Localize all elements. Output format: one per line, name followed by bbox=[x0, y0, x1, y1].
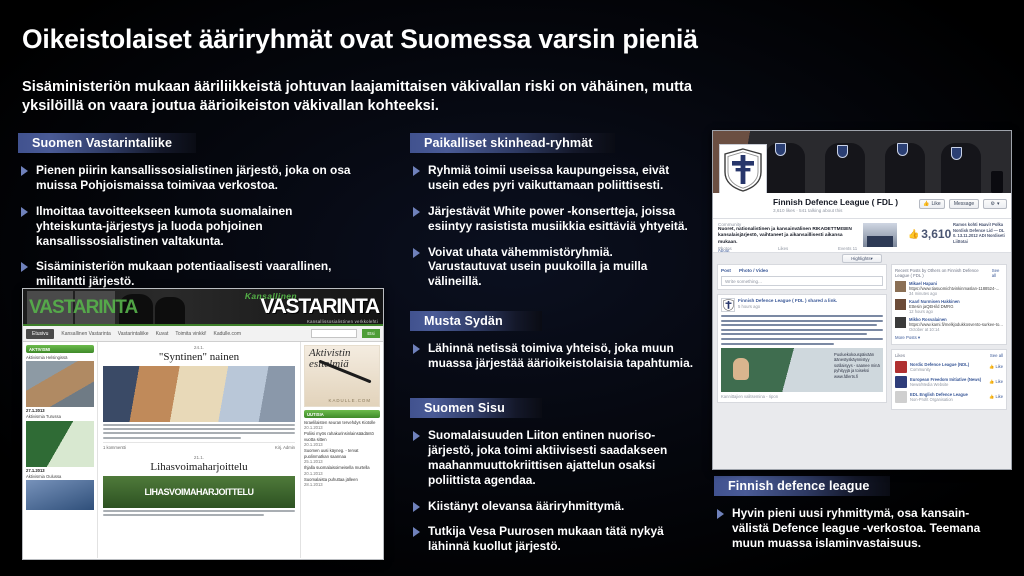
recent-post-time: 34 minutes ago bbox=[909, 291, 1003, 296]
bullet-text: Ryhmiä toimii useissa kaupungeissa, eivä… bbox=[428, 163, 669, 192]
like-count-value: 3,610 bbox=[921, 227, 951, 241]
facebook-sidebar-column: Recent Posts by Others on Finnish Defenc… bbox=[891, 264, 1007, 414]
bullet-text: Tutkija Vesa Puurosen mukaan tätä nykyä … bbox=[428, 524, 664, 553]
tab-likes[interactable]: Likes bbox=[778, 246, 838, 251]
highlights-bar: Highlights ▾ bbox=[713, 253, 1011, 264]
cover-badge-icon bbox=[775, 143, 786, 156]
news-item-date: 25.1.2013 bbox=[304, 459, 380, 464]
search-submit-button[interactable]: Etsi bbox=[362, 329, 380, 338]
bullet-list-suomen-vastarintaliike: Pienen piirin kansallissosialistinen jär… bbox=[20, 163, 360, 289]
article-author: Kirj. Admin bbox=[275, 445, 295, 450]
recent-post-avatar[interactable] bbox=[895, 299, 906, 310]
photo-meta: Kannittajien valitsemina - ripon bbox=[721, 394, 883, 399]
tab-photos[interactable]: Photos bbox=[718, 246, 778, 251]
likes-card: Likes See all Nordic Defence League (NDL… bbox=[891, 349, 1007, 410]
more-posts-link[interactable]: More Posts ▾ bbox=[895, 335, 1003, 341]
section-title: Musta Sydän bbox=[410, 314, 503, 328]
section-header-suomen-vastarintaliike: Suomen Vastarintaliike bbox=[18, 133, 196, 153]
nav-home-button[interactable]: Etusivu bbox=[26, 329, 54, 339]
likes-see-all-link[interactable]: See all bbox=[990, 353, 1003, 358]
bullet-text: Hyvin pieni uusi ryhmittymä, osa kansain… bbox=[732, 506, 980, 550]
article-title[interactable]: "Syntinen" nainen bbox=[103, 351, 295, 363]
recent-posts-header: Recent Posts by Others on Finnish Defenc… bbox=[895, 268, 1003, 278]
chevron-down-icon: ▾ bbox=[871, 256, 873, 262]
bullet-item: Suomalaisuuden Liiton entinen nuoriso-jä… bbox=[412, 428, 674, 488]
liked-page-item: EDL English Defence League Non-Profit Or… bbox=[895, 391, 1003, 403]
post-body-text bbox=[721, 315, 883, 345]
like-button[interactable]: 👍 Like bbox=[919, 199, 945, 209]
message-button-label: Message bbox=[954, 201, 974, 207]
bullet-list-musta-sydan: Lähinnä netissä toimiva yhteisö, joka mu… bbox=[412, 341, 697, 371]
photo-caption: Puoluekokouspäivään äänestyskäynnistyy s… bbox=[834, 352, 880, 380]
bullet-item: Ilmoittaa tavoitteekseen kumota suomalai… bbox=[20, 204, 360, 249]
vastarinta-banner: VASTARINTA Kansallinen VASTARINTA Kansal… bbox=[23, 289, 383, 326]
section-title: Suomen Sisu bbox=[410, 401, 505, 415]
about-text: Nuoret, nationalistinen ja kansainväline… bbox=[718, 227, 856, 246]
post-author-avatar[interactable] bbox=[721, 298, 735, 312]
liked-page-category: Non-Profit Organisation bbox=[910, 397, 986, 402]
news-item-date: 20.1.2013 bbox=[304, 425, 380, 430]
like-label: Like bbox=[995, 394, 1003, 399]
liked-page-category: News/Media Website bbox=[910, 382, 986, 387]
nav-item[interactable]: Kuvat bbox=[156, 331, 169, 337]
bullet-text: Järjestävät White power -konsertteja, jo… bbox=[428, 204, 688, 233]
section-header-paikalliset-skinhead-ryhmat: Paikalliset skinhead-ryhmät bbox=[410, 133, 615, 153]
recent-post-avatar[interactable] bbox=[895, 317, 906, 328]
chevron-down-icon: ▾ bbox=[997, 201, 1000, 207]
thumb-date: 27.1.2013 bbox=[26, 468, 94, 473]
shield-crusader-icon bbox=[723, 299, 734, 311]
gear-icon: ⚙ bbox=[991, 201, 995, 207]
recent-post-item: Kaarl Nurmisen Hakkinen Ettesin jaQEHild… bbox=[895, 299, 1003, 314]
message-button[interactable]: Message bbox=[949, 199, 979, 209]
thumbnail-image[interactable] bbox=[26, 421, 94, 467]
thumbs-up-icon: 👍 bbox=[923, 201, 929, 207]
like-label: Like bbox=[995, 364, 1003, 369]
triangle-bullet-icon bbox=[413, 431, 420, 441]
liked-page-item: Nordic Defence League (NDL) Community 👍 … bbox=[895, 361, 1003, 373]
thumbnail-image[interactable] bbox=[26, 361, 94, 407]
bullet-item: Tutkija Vesa Puurosen mukaan tätä nykyä … bbox=[412, 524, 674, 554]
bullet-list-finnish-defence-league: Hyvin pieni uusi ryhmittymä, osa kansain… bbox=[716, 506, 1006, 551]
bottle-object bbox=[991, 171, 1003, 193]
fdl-facebook-screenshot: Finnish Defence League ( FDL ) 3,610 lik… bbox=[712, 130, 1012, 470]
banner-wordmark: VASTARINTA bbox=[260, 296, 379, 317]
recent-posts-see-all-link[interactable]: See all bbox=[992, 268, 1003, 278]
nav-item[interactable]: Kadulle.com bbox=[213, 331, 241, 337]
search-input[interactable] bbox=[311, 329, 357, 338]
vastarinta-website-screenshot: VASTARINTA Kansallinen VASTARINTA Kansal… bbox=[22, 288, 384, 560]
news-item-text[interactable]: Ihjalla suomalaisoimeisella murtella bbox=[304, 465, 380, 470]
vastarinta-center-column: 24.1. "Syntinen" nainen 1 kommentti Kirj… bbox=[97, 342, 301, 558]
comment-count[interactable]: 1 kommentti bbox=[103, 445, 126, 450]
news-item-date: 28.1.2013 bbox=[304, 482, 380, 487]
news-item-text[interactable]: Poliisi myös rahakurinsinlainsäädäntö vu… bbox=[304, 431, 380, 442]
page-title: Oikeistolaiset ääriryhmät ovat Suomessa … bbox=[22, 24, 698, 55]
recent-post-avatar[interactable] bbox=[895, 281, 906, 292]
page-side-note: Ramos kohti Haavi! Polka Nordisk Defence… bbox=[953, 222, 1007, 244]
bullet-text: Sisäministeriön mukaan potentiaalisesti … bbox=[36, 259, 331, 288]
bullet-list-paikalliset-skinhead-ryhmat: Ryhmiä toimii useissa kaupungeissa, eivä… bbox=[412, 163, 692, 289]
like-page-button[interactable]: 👍 Like bbox=[989, 364, 1003, 370]
bullet-item: Sisäministeriön mukaan potentiaalisesti … bbox=[20, 259, 360, 289]
thumb-caption: Aktivismia Oulussa bbox=[26, 474, 94, 479]
bullet-text: Suomalaisuuden Liiton entinen nuoriso-jä… bbox=[428, 428, 667, 487]
page-tab-row[interactable]: Photos Likes Events 11 bbox=[718, 246, 1006, 251]
triangle-bullet-icon bbox=[21, 166, 28, 176]
liked-page-avatar[interactable] bbox=[895, 361, 907, 373]
post-timestamp: 5 hours ago bbox=[738, 304, 837, 309]
thumbnail-image[interactable] bbox=[26, 480, 94, 510]
article-title[interactable]: Lihasvoimaharjoittelu bbox=[103, 461, 295, 473]
vastarinta-right-column: Aktivistin esitelmiä KADULLE.COM UUTISIA… bbox=[301, 342, 383, 558]
promo-stamp: KADULLE.COM bbox=[329, 398, 371, 403]
post-attached-photo[interactable]: Puoluekokouspäivään äänestyskäynnistyy s… bbox=[721, 348, 883, 392]
bullet-text: Ilmoittaa tavoitteekseen kumota suomalai… bbox=[36, 204, 292, 248]
section-title: Paikalliset skinhead-ryhmät bbox=[410, 136, 593, 150]
bullet-item: Hyvin pieni uusi ryhmittymä, osa kansain… bbox=[716, 506, 1006, 551]
article-meta: 1 kommentti Kirj. Admin bbox=[103, 442, 295, 450]
highlights-dropdown-button[interactable]: Highlights ▾ bbox=[842, 254, 882, 263]
news-header: UUTISIA bbox=[304, 410, 380, 418]
likes-card-title: Likes bbox=[895, 353, 905, 358]
bullet-item: Lähinnä netissä toimiva yhteisö, joka mu… bbox=[412, 341, 697, 371]
facebook-info-strip: Community Nuoret, nationalistinen ja kan… bbox=[713, 219, 1011, 253]
article-excerpt bbox=[103, 510, 295, 516]
post-header: Finnish Defence League ( FDL ) shared a … bbox=[721, 298, 883, 312]
article-date: 24.1. bbox=[103, 345, 295, 350]
bullet-item: Järjestävät White power -konsertteja, jo… bbox=[412, 204, 692, 234]
composer-tab-photo-video[interactable]: Photo / Video bbox=[739, 268, 768, 273]
article-image bbox=[103, 366, 295, 422]
tab-events[interactable]: Events 11 bbox=[838, 246, 898, 251]
news-list: Israelilaisten seuran tervehdys Kiotolle… bbox=[304, 420, 380, 487]
banner-subtitle: Kansallissosialistinen verkkolehti bbox=[307, 319, 378, 324]
liked-page-category: Community bbox=[910, 367, 986, 372]
page-stats: 3,610 likes · 541 talking about this bbox=[773, 208, 842, 213]
triangle-bullet-icon bbox=[413, 207, 420, 217]
triangle-bullet-icon bbox=[413, 502, 420, 512]
triangle-bullet-icon bbox=[21, 207, 28, 217]
facebook-main-area: Post Photo / Video Write something... bbox=[713, 264, 1011, 414]
status-composer[interactable]: Post Photo / Video Write something... bbox=[717, 264, 887, 290]
page-name: Finnish Defence League ( FDL ) bbox=[773, 197, 898, 207]
news-item-date: 20.1.2013 bbox=[304, 442, 380, 447]
triangle-bullet-icon bbox=[413, 527, 420, 537]
bullet-item: Kiistänyt olevansa ääriryhmittymä. bbox=[412, 499, 674, 514]
section-title: Suomen Vastarintaliike bbox=[18, 136, 172, 150]
section-title: Finnish defence league bbox=[714, 479, 869, 493]
cover-badge-icon bbox=[837, 145, 848, 158]
bullet-item: Voivat uhata vähemmistöryhmiä. Varustaut… bbox=[412, 245, 692, 290]
composer-tab-post[interactable]: Post bbox=[721, 268, 731, 273]
thumbs-up-icon: 👍 bbox=[908, 229, 919, 240]
nav-item[interactable]: Vastarintaliike bbox=[118, 331, 149, 337]
recent-posts-title: Recent Posts by Others on Finnish Defenc… bbox=[895, 268, 992, 278]
bullet-text: Pienen piirin kansallissosialistinen jär… bbox=[36, 163, 351, 192]
like-button-label: Like bbox=[932, 201, 941, 207]
banner-silhouette bbox=[155, 297, 185, 324]
photo-subject bbox=[733, 358, 749, 380]
triangle-bullet-icon bbox=[413, 248, 420, 258]
facebook-timeline-column: Post Photo / Video Write something... bbox=[717, 264, 887, 414]
thumb-date: 27.1.2013 bbox=[26, 408, 94, 413]
infographic-slide: Oikeistolaiset ääriryhmät ovat Suomessa … bbox=[0, 0, 1024, 576]
likes-card-header: Likes See all bbox=[895, 353, 1003, 358]
vastarinta-left-column: AKTIVISMI Aktivismia Helsingissä 27.1.20… bbox=[23, 342, 97, 558]
more-posts-label: More Posts bbox=[895, 335, 917, 340]
like-label: Like bbox=[995, 379, 1003, 384]
article-banner-image: LIHASVOIMAHARJOITTELU bbox=[103, 476, 295, 508]
news-item-text[interactable]: Suomen uusi käyneg. - tervat puolinmatka… bbox=[304, 448, 380, 459]
bullet-item: Ryhmiä toimii useissa kaupungeissa, eivä… bbox=[412, 163, 692, 193]
photos-preview-tile[interactable] bbox=[863, 223, 897, 247]
bullet-list-suomen-sisu: Suomalaisuuden Liiton entinen nuoriso-jä… bbox=[412, 428, 674, 554]
shield-crusader-icon bbox=[723, 148, 763, 192]
cover-badge-icon bbox=[897, 143, 908, 156]
thumb-caption: Aktivismia Helsingissä bbox=[26, 355, 94, 360]
gear-button[interactable]: ⚙ ▾ bbox=[983, 199, 1007, 209]
nav-item[interactable]: Toimita vinkki! bbox=[175, 331, 206, 337]
liked-page-avatar[interactable] bbox=[895, 391, 907, 403]
sidebar-promo-box[interactable]: Aktivistin esitelmiä KADULLE.COM bbox=[304, 345, 380, 407]
like-page-button[interactable]: 👍 Like bbox=[989, 379, 1003, 385]
recent-post-time: October at 10:14 bbox=[909, 327, 1003, 332]
vastarinta-body: AKTIVISMI Aktivismia Helsingissä 27.1.20… bbox=[23, 342, 383, 558]
bullet-text: Voivat uhata vähemmistöryhmiä. Varustaut… bbox=[428, 245, 647, 289]
cover-badge-icon bbox=[951, 147, 962, 160]
recent-posts-by-others-card: Recent Posts by Others on Finnish Defenc… bbox=[891, 264, 1007, 345]
recent-post-time: 12 hours ago bbox=[909, 309, 1003, 314]
facebook-page-identity-bar: Finnish Defence League ( FDL ) 3,610 lik… bbox=[713, 193, 1011, 219]
liked-page-item: European Freedom Initiative (News) News/… bbox=[895, 376, 1003, 388]
like-page-button[interactable]: 👍 Like bbox=[989, 394, 1003, 400]
thumb-caption: Aktivismia Turussa bbox=[26, 414, 94, 419]
recent-post-item: Mikael Hapani https://www.tiasuomichtvin… bbox=[895, 281, 1003, 296]
left-column-header: AKTIVISMI bbox=[26, 345, 94, 353]
article-date: 21.1. bbox=[103, 455, 295, 460]
nav-item[interactable]: Kansallinen Vastarinta bbox=[61, 331, 110, 337]
page-avatar[interactable] bbox=[719, 144, 767, 196]
triangle-bullet-icon bbox=[717, 509, 724, 519]
news-item-date: 20.1.2013 bbox=[304, 471, 380, 476]
composer-tabs[interactable]: Post Photo / Video bbox=[721, 268, 883, 273]
triangle-bullet-icon bbox=[413, 344, 420, 354]
bullet-text: Lähinnä netissä toimiva yhteisö, joka mu… bbox=[428, 341, 693, 370]
liked-page-avatar[interactable] bbox=[895, 376, 907, 388]
section-header-suomen-sisu: Suomen Sisu bbox=[410, 398, 542, 418]
triangle-bullet-icon bbox=[21, 262, 28, 272]
recent-post-item: Mikko Rosvalainen https://www.kami.fi/me… bbox=[895, 317, 1003, 332]
like-count-display: 👍 3,610 bbox=[908, 227, 951, 241]
bullet-text: Kiistänyt olevansa ääriryhmittymä. bbox=[428, 499, 624, 513]
banner-overlay-word: VASTARINTA bbox=[29, 297, 137, 319]
composer-input[interactable]: Write something... bbox=[721, 276, 883, 286]
vastarinta-navbar[interactable]: Etusivu Kansallinen Vastarinta Vastarint… bbox=[23, 326, 383, 342]
article-excerpt bbox=[103, 424, 295, 439]
bullet-item: Pienen piirin kansallissosialistinen jär… bbox=[20, 163, 360, 193]
triangle-bullet-icon bbox=[413, 166, 420, 176]
section-header-musta-sydan: Musta Sydän bbox=[410, 311, 542, 331]
timeline-post: Finnish Defence League ( FDL ) shared a … bbox=[717, 294, 887, 403]
page-subtitle: Sisäministeriön mukaan ääriliikkeistä jo… bbox=[22, 78, 752, 115]
highlights-label: Highlights bbox=[851, 256, 870, 261]
section-header-finnish-defence-league: Finnish defence league bbox=[714, 476, 890, 496]
